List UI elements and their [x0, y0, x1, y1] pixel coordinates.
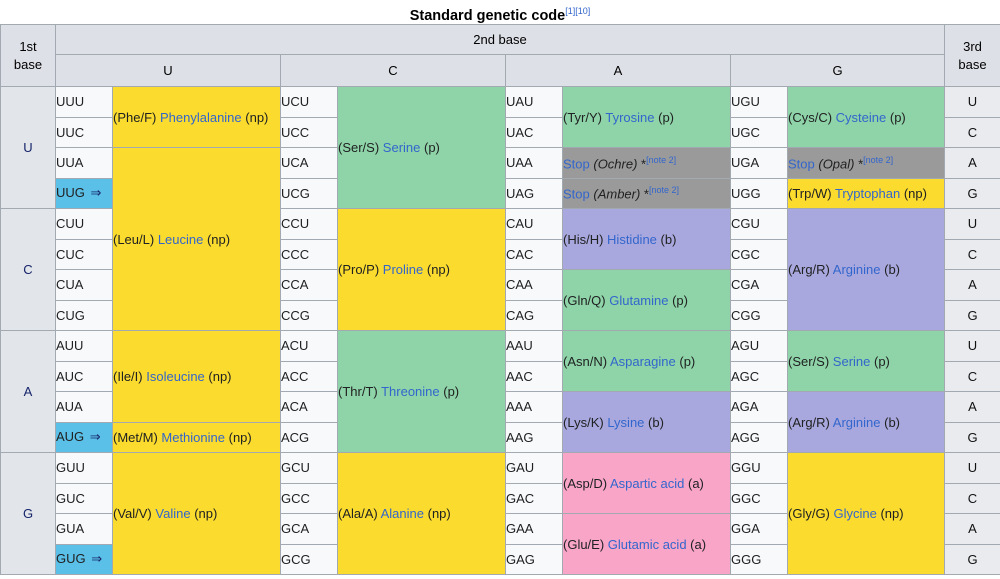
- amino-acid-cell-glycine: (Gly/G) Glycine (np): [788, 453, 945, 575]
- codon-cell-GCG: GCG: [281, 544, 338, 575]
- amino-acid-name[interactable]: Tryptophan: [835, 186, 900, 201]
- amino-acid-cell-serine: (Ser/S) Serine (p): [338, 87, 506, 209]
- amino-acid-property: (a): [684, 476, 704, 491]
- codon-cell-AGC: AGC: [731, 361, 788, 392]
- amino-acid-abbrev: (Tyr/Y): [563, 110, 605, 125]
- page-title: Standard genetic code[1][10]: [0, 0, 1000, 24]
- codon-cell-GUU: GUU: [56, 453, 113, 484]
- header-row-columns: U C A G: [1, 55, 1000, 87]
- amino-acid-name[interactable]: Leucine: [158, 232, 204, 247]
- amino-acid-property: (b): [881, 415, 901, 430]
- amino-acid-name[interactable]: Valine: [155, 506, 190, 521]
- amino-acid-name[interactable]: Arginine: [833, 415, 881, 430]
- amino-acid-name[interactable]: Isoleucine: [146, 369, 205, 384]
- amino-acid-abbrev: (Pro/P): [338, 262, 383, 277]
- codon-cell-AAU: AAU: [506, 331, 563, 362]
- third-base-cell-A: A: [945, 270, 1000, 301]
- third-base-cell-C: C: [945, 117, 1000, 148]
- amino-acid-abbrev: (Thr/T): [338, 384, 381, 399]
- codon-cell-AAC: AAC: [506, 361, 563, 392]
- amino-acid-cell-tryptophan: (Trp/W) Tryptophan (np): [788, 178, 945, 209]
- amino-acid-property: (np): [225, 430, 252, 445]
- amino-acid-property: (np): [423, 262, 450, 277]
- amino-acid-name[interactable]: Glycine: [834, 506, 877, 521]
- codon-row: GGUU(Val/V) Valine (np)GCU(Ala/A) Alanin…: [1, 453, 1000, 484]
- third-base-cell-U: U: [945, 331, 1000, 362]
- codon-cell-GAC: GAC: [506, 483, 563, 514]
- amino-acid-cell-leucine: (Leu/L) Leucine (np): [113, 148, 281, 331]
- codon-cell-UGU: UGU: [731, 87, 788, 118]
- codon-cell-CAC: CAC: [506, 239, 563, 270]
- amino-acid-cell-stop-ochre: Stop (Ochre) *[note 2]: [563, 148, 731, 179]
- codon-cell-GGG: GGG: [731, 544, 788, 575]
- amino-acid-property: (p): [440, 384, 460, 399]
- start-codon-arrow-icon: ⇒: [85, 185, 102, 200]
- codon-cell-AAG: AAG: [506, 422, 563, 453]
- codon-cell-AGU: AGU: [731, 331, 788, 362]
- codon-cell-UCA: UCA: [281, 148, 338, 179]
- codon-cell-UUG: UUG ⇒: [56, 178, 113, 209]
- codon-cell-GAG: GAG: [506, 544, 563, 575]
- amino-acid-property: (np): [242, 110, 269, 125]
- amino-acid-abbrev: (Arg/R): [788, 262, 833, 277]
- start-codon-arrow-icon: ⇒: [86, 551, 103, 566]
- amino-acid-cell-isoleucine: (Ile/I) Isoleucine (np): [113, 331, 281, 423]
- codon-cell-CGU: CGU: [731, 209, 788, 240]
- header-second-base: 2nd base: [56, 25, 945, 55]
- amino-acid-abbrev: (Met/M): [113, 430, 161, 445]
- codon-cell-CGC: CGC: [731, 239, 788, 270]
- page-title-text: Standard genetic code: [410, 8, 566, 24]
- amino-acid-cell-arginine: (Arg/R) Arginine (b): [788, 209, 945, 331]
- codon-cell-UUU: UUU: [56, 87, 113, 118]
- amino-acid-cell-serine: (Ser/S) Serine (p): [788, 331, 945, 392]
- codon-cell-AUC: AUC: [56, 361, 113, 392]
- amino-acid-name[interactable]: Serine: [383, 140, 421, 155]
- amino-acid-name[interactable]: Alanine: [381, 506, 424, 521]
- amino-acid-cell-histidine: (His/H) Histidine (b): [563, 209, 731, 270]
- amino-acid-name[interactable]: Methionine: [161, 430, 225, 445]
- amino-acid-name[interactable]: Tyrosine: [605, 110, 654, 125]
- codon-cell-UAU: UAU: [506, 87, 563, 118]
- codon-cell-GGC: GGC: [731, 483, 788, 514]
- codon-cell-CUU: CUU: [56, 209, 113, 240]
- codon-cell-UAG: UAG: [506, 178, 563, 209]
- table-header: 1st base 2nd base 3rd base U C A G: [1, 25, 1000, 87]
- amino-acid-abbrev: (Cys/C): [788, 110, 836, 125]
- amino-acid-name[interactable]: Lysine: [607, 415, 644, 430]
- amino-acid-cell-stop-amber: Stop (Amber) *[note 2]: [563, 178, 731, 209]
- amino-acid-name[interactable]: Aspartic acid: [610, 476, 684, 491]
- amino-acid-abbrev: (Ser/S): [788, 354, 833, 369]
- amino-acid-name[interactable]: Serine: [833, 354, 871, 369]
- header-third-base: 3rd base: [945, 25, 1000, 87]
- third-base-cell-A: A: [945, 514, 1000, 545]
- codon-row: AAUU(Ile/I) Isoleucine (np)ACU(Thr/T) Th…: [1, 331, 1000, 362]
- codon-cell-UUA: UUA: [56, 148, 113, 179]
- amino-acid-cell-stop-opal: Stop (Opal) *[note 2]: [788, 148, 945, 179]
- amino-acid-property: (b): [644, 415, 664, 430]
- stop-alias: (Ochre): [590, 156, 641, 171]
- codon-row: UUUU(Phe/F) Phenylalanine (np)UCU(Ser/S)…: [1, 87, 1000, 118]
- amino-acid-abbrev: (Asn/N): [563, 354, 610, 369]
- amino-acid-cell-arginine: (Arg/R) Arginine (b): [788, 392, 945, 453]
- amino-acid-property: (p): [655, 110, 675, 125]
- amino-acid-abbrev: (Arg/R): [788, 415, 833, 430]
- stop-label[interactable]: Stop: [563, 156, 590, 171]
- amino-acid-abbrev: (His/H): [563, 232, 607, 247]
- third-base-cell-C: C: [945, 483, 1000, 514]
- header-column-C: C: [281, 55, 506, 87]
- amino-acid-name[interactable]: Threonine: [381, 384, 440, 399]
- amino-acid-property: (np): [191, 506, 218, 521]
- header-third-base-line2: base: [958, 57, 986, 72]
- codon-cell-AGA: AGA: [731, 392, 788, 423]
- third-base-cell-G: G: [945, 300, 1000, 331]
- stop-note-reference[interactable]: [note 2]: [646, 155, 676, 165]
- third-base-cell-A: A: [945, 392, 1000, 423]
- amino-acid-abbrev: (Ala/A): [338, 506, 381, 521]
- amino-acid-cell-glutamic-acid: (Glu/E) Glutamic acid (a): [563, 514, 731, 575]
- amino-acid-abbrev: (Ile/I): [113, 369, 146, 384]
- amino-acid-property: (np): [877, 506, 904, 521]
- amino-acid-property: (np): [205, 369, 232, 384]
- codon-cell-CUA: CUA: [56, 270, 113, 301]
- third-base-cell-U: U: [945, 453, 1000, 484]
- amino-acid-cell-aspartic-acid: (Asp/D) Aspartic acid (a): [563, 453, 731, 514]
- codon-cell-CGA: CGA: [731, 270, 788, 301]
- header-first-base-line2: base: [14, 57, 42, 72]
- codon-cell-GCC: GCC: [281, 483, 338, 514]
- codon-cell-AUA: AUA: [56, 392, 113, 423]
- codon-cell-GCU: GCU: [281, 453, 338, 484]
- third-base-cell-G: G: [945, 178, 1000, 209]
- amino-acid-abbrev: (Asp/D): [563, 476, 610, 491]
- header-first-base: 1st base: [1, 25, 56, 87]
- codon-cell-AUG: AUG ⇒: [56, 422, 113, 453]
- amino-acid-cell-alanine: (Ala/A) Alanine (np): [338, 453, 506, 575]
- amino-acid-abbrev: (Val/V): [113, 506, 155, 521]
- codon-cell-CCC: CCC: [281, 239, 338, 270]
- amino-acid-property: (b): [881, 262, 901, 277]
- codon-cell-UCC: UCC: [281, 117, 338, 148]
- standard-genetic-code-table: 1st base 2nd base 3rd base U C A G UUUU(…: [0, 24, 1000, 575]
- third-base-cell-C: C: [945, 361, 1000, 392]
- third-base-cell-A: A: [945, 148, 1000, 179]
- amino-acid-abbrev: (Lys/K): [563, 415, 607, 430]
- first-base-cell-C: C: [1, 209, 56, 331]
- third-base-cell-C: C: [945, 239, 1000, 270]
- codon-cell-CAA: CAA: [506, 270, 563, 301]
- amino-acid-property: (a): [687, 537, 707, 552]
- header-third-base-line1: 3rd: [963, 39, 982, 54]
- codon-cell-GAU: GAU: [506, 453, 563, 484]
- amino-acid-property: (np): [900, 186, 927, 201]
- amino-acid-abbrev: (Gln/Q): [563, 293, 609, 308]
- codon-cell-AUU: AUU: [56, 331, 113, 362]
- amino-acid-abbrev: (Trp/W): [788, 186, 835, 201]
- codon-cell-UAC: UAC: [506, 117, 563, 148]
- first-base-cell-U: U: [1, 87, 56, 209]
- amino-acid-property: (p): [420, 140, 440, 155]
- header-column-U: U: [56, 55, 281, 87]
- codon-cell-ACG: ACG: [281, 422, 338, 453]
- codon-cell-UUC: UUC: [56, 117, 113, 148]
- header-column-A: A: [506, 55, 731, 87]
- codon-cell-CCU: CCU: [281, 209, 338, 240]
- codon-cell-CCG: CCG: [281, 300, 338, 331]
- codon-cell-CUG: CUG: [56, 300, 113, 331]
- amino-acid-name[interactable]: Glutamine: [609, 293, 668, 308]
- amino-acid-cell-threonine: (Thr/T) Threonine (p): [338, 331, 506, 453]
- stop-note-reference[interactable]: [note 2]: [649, 185, 679, 195]
- stop-note-reference[interactable]: [note 2]: [863, 155, 893, 165]
- codon-cell-GUA: GUA: [56, 514, 113, 545]
- amino-acid-name[interactable]: Arginine: [833, 262, 881, 277]
- third-base-cell-G: G: [945, 544, 1000, 575]
- amino-acid-property: (p): [886, 110, 906, 125]
- amino-acid-name[interactable]: Proline: [383, 262, 423, 277]
- table-body: UUUU(Phe/F) Phenylalanine (np)UCU(Ser/S)…: [1, 87, 1000, 575]
- codon-cell-AGG: AGG: [731, 422, 788, 453]
- start-codon-arrow-icon: ⇒: [84, 429, 101, 444]
- amino-acid-property: (p): [676, 354, 696, 369]
- amino-acid-property: (np): [203, 232, 230, 247]
- amino-acid-abbrev: (Leu/L): [113, 232, 158, 247]
- codon-cell-ACU: ACU: [281, 331, 338, 362]
- amino-acid-name[interactable]: Phenylalanine: [160, 110, 242, 125]
- amino-acid-name[interactable]: Histidine: [607, 232, 657, 247]
- codon-cell-GGA: GGA: [731, 514, 788, 545]
- codon-cell-UCG: UCG: [281, 178, 338, 209]
- codon-cell-CGG: CGG: [731, 300, 788, 331]
- amino-acid-cell-methionine: (Met/M) Methionine (np): [113, 422, 281, 453]
- third-base-cell-U: U: [945, 87, 1000, 118]
- amino-acid-abbrev: (Phe/F): [113, 110, 160, 125]
- amino-acid-cell-lysine: (Lys/K) Lysine (b): [563, 392, 731, 453]
- amino-acid-property: (b): [657, 232, 677, 247]
- amino-acid-cell-glutamine: (Gln/Q) Glutamine (p): [563, 270, 731, 331]
- codon-cell-CUC: CUC: [56, 239, 113, 270]
- header-first-base-line1: 1st: [19, 39, 36, 54]
- amino-acid-cell-proline: (Pro/P) Proline (np): [338, 209, 506, 331]
- codon-cell-UGC: UGC: [731, 117, 788, 148]
- first-base-cell-G: G: [1, 453, 56, 575]
- amino-acid-cell-valine: (Val/V) Valine (np): [113, 453, 281, 575]
- amino-acid-name[interactable]: Asparagine: [610, 354, 676, 369]
- amino-acid-property: (p): [668, 293, 688, 308]
- first-base-cell-A: A: [1, 331, 56, 453]
- amino-acid-abbrev: (Gly/G): [788, 506, 834, 521]
- header-row-top: 1st base 2nd base 3rd base: [1, 25, 1000, 55]
- amino-acid-cell-tyrosine: (Tyr/Y) Tyrosine (p): [563, 87, 731, 148]
- stop-alias: (Amber): [590, 186, 644, 201]
- amino-acid-property: (np): [424, 506, 451, 521]
- codon-cell-CAU: CAU: [506, 209, 563, 240]
- codon-cell-ACA: ACA: [281, 392, 338, 423]
- codon-cell-UCU: UCU: [281, 87, 338, 118]
- third-base-cell-G: G: [945, 422, 1000, 453]
- codon-cell-GGU: GGU: [731, 453, 788, 484]
- codon-cell-ACC: ACC: [281, 361, 338, 392]
- amino-acid-abbrev: (Ser/S): [338, 140, 383, 155]
- codon-cell-GAA: GAA: [506, 514, 563, 545]
- amino-acid-abbrev: (Glu/E): [563, 537, 608, 552]
- stop-label[interactable]: Stop: [788, 156, 815, 171]
- amino-acid-cell-phenylalanine: (Phe/F) Phenylalanine (np): [113, 87, 281, 148]
- codon-cell-UGG: UGG: [731, 178, 788, 209]
- codon-cell-CCA: CCA: [281, 270, 338, 301]
- stop-label[interactable]: Stop: [563, 186, 590, 201]
- amino-acid-property: (p): [870, 354, 890, 369]
- genetic-code-page: Standard genetic code[1][10] 1st base 2n…: [0, 0, 1000, 579]
- amino-acid-cell-cysteine: (Cys/C) Cysteine (p): [788, 87, 945, 148]
- amino-acid-name[interactable]: Glutamic acid: [608, 537, 687, 552]
- codon-cell-GUC: GUC: [56, 483, 113, 514]
- third-base-cell-U: U: [945, 209, 1000, 240]
- header-column-G: G: [731, 55, 945, 87]
- codon-cell-CAG: CAG: [506, 300, 563, 331]
- codon-cell-UGA: UGA: [731, 148, 788, 179]
- codon-cell-UAA: UAA: [506, 148, 563, 179]
- codon-cell-GUG: GUG ⇒: [56, 544, 113, 575]
- amino-acid-cell-asparagine: (Asn/N) Asparagine (p): [563, 331, 731, 392]
- title-references[interactable]: [1][10]: [565, 6, 590, 16]
- codon-cell-AAA: AAA: [506, 392, 563, 423]
- codon-cell-GCA: GCA: [281, 514, 338, 545]
- amino-acid-name[interactable]: Cysteine: [836, 110, 887, 125]
- stop-alias: (Opal): [815, 156, 858, 171]
